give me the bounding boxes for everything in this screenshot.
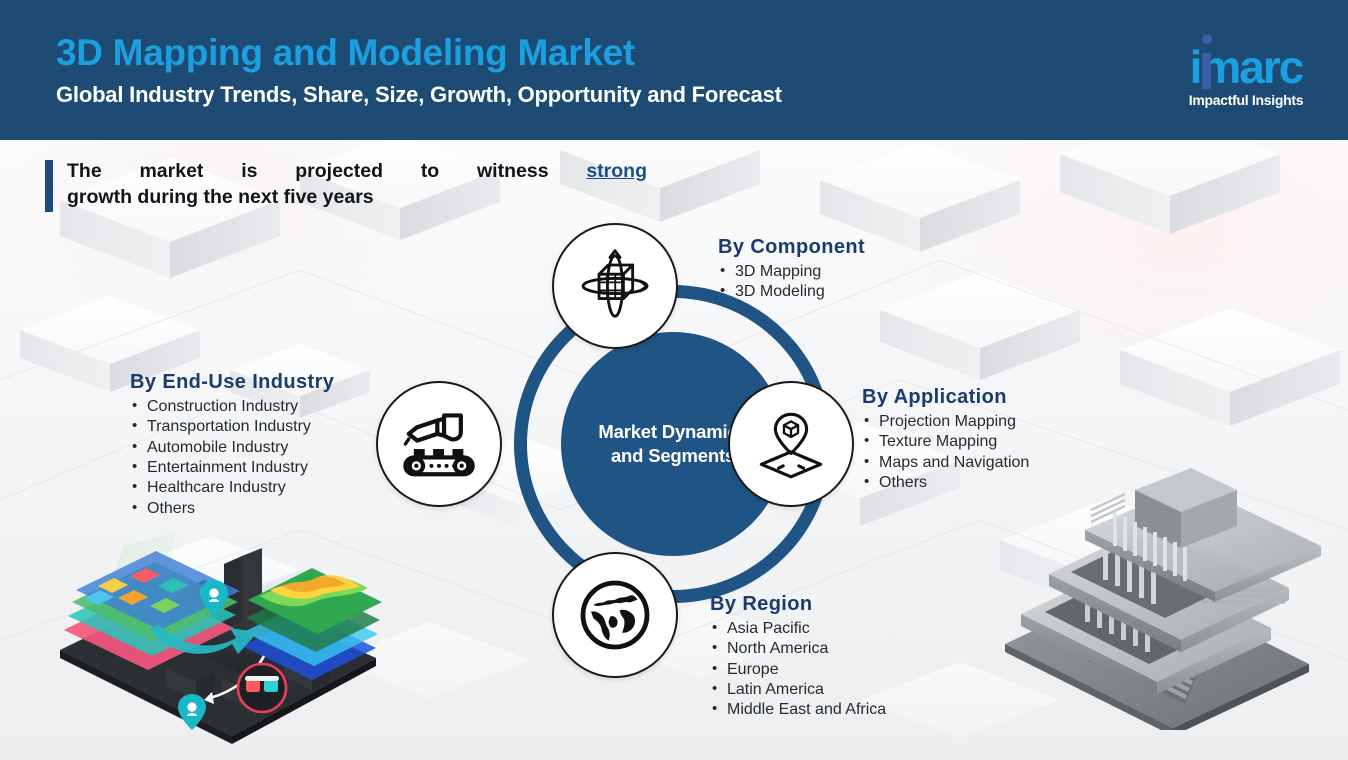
segment-block-end-use-industry: By End-Use Industry Construction Industr… bbox=[130, 371, 334, 519]
page-title: 3D Mapping and Modeling Market bbox=[56, 34, 782, 73]
isometric-3d-city-map-illustration bbox=[46, 528, 392, 760]
list-item: 3D Modeling bbox=[718, 282, 865, 302]
segment-list: Construction Industry Transportation Ind… bbox=[130, 397, 334, 519]
list-item: Europe bbox=[710, 660, 886, 680]
callout-line-1: The market is projected to witness stron… bbox=[67, 158, 647, 184]
hub-center-label: Market Dynamics and Segments bbox=[598, 420, 747, 467]
segment-title: By End-Use Industry bbox=[130, 371, 334, 394]
page-subtitle: Global Industry Trends, Share, Size, Gro… bbox=[56, 82, 782, 108]
hub-node-region[interactable] bbox=[552, 552, 678, 678]
segment-block-region: By Region Asia Pacific North America Eur… bbox=[710, 593, 886, 721]
strong-growth-link[interactable]: strong bbox=[586, 160, 647, 182]
list-item: Texture Mapping bbox=[862, 432, 1029, 452]
hub-node-component[interactable] bbox=[552, 223, 678, 349]
list-item: Projection Mapping bbox=[862, 412, 1029, 432]
logo-tagline: Impactful Insights bbox=[1166, 92, 1326, 108]
list-item: Others bbox=[130, 499, 334, 519]
segment-list: Asia Pacific North America Europe Latin … bbox=[710, 619, 886, 721]
globe-icon bbox=[575, 575, 655, 655]
logo-wordmark: imarc bbox=[1166, 44, 1326, 90]
list-item: 3D Mapping bbox=[718, 262, 865, 282]
segment-title: By Application bbox=[862, 386, 1029, 409]
robot-arm-conveyor-icon bbox=[397, 402, 481, 486]
header-text-group: 3D Mapping and Modeling Market Global In… bbox=[56, 34, 782, 108]
list-item: Transportation Industry bbox=[130, 417, 334, 437]
list-item: Entertainment Industry bbox=[130, 458, 334, 478]
list-item: Automobile Industry bbox=[130, 438, 334, 458]
list-item: Asia Pacific bbox=[710, 619, 886, 639]
segment-title: By Region bbox=[710, 593, 886, 616]
list-item: Healthcare Industry bbox=[130, 478, 334, 498]
callout-text: The market is projected to witness stron… bbox=[67, 158, 679, 211]
imarc-logo[interactable]: imarc Impactful Insights bbox=[1166, 26, 1326, 114]
segment-title: By Component bbox=[718, 236, 865, 259]
callout: The market is projected to witness stron… bbox=[45, 158, 685, 216]
callout-line-2: growth during the next five years bbox=[67, 184, 679, 210]
infographic-page: 3D Mapping and Modeling Market Global In… bbox=[0, 0, 1348, 760]
3d-glasses-icon bbox=[238, 664, 286, 712]
map-pin-cube-icon bbox=[752, 405, 830, 483]
list-item: North America bbox=[710, 639, 886, 659]
cube-rotation-axes-icon bbox=[573, 244, 657, 328]
header-banner: 3D Mapping and Modeling Market Global In… bbox=[0, 0, 1348, 140]
hub-center-line-2: and Segments bbox=[611, 445, 735, 466]
segment-block-component: By Component 3D Mapping 3D Modeling bbox=[718, 236, 865, 303]
callout-accent-bar bbox=[45, 160, 53, 212]
logo-i-stem-accent bbox=[1202, 53, 1211, 89]
segment-list: 3D Mapping 3D Modeling bbox=[718, 262, 865, 303]
hub-node-end-use-industry[interactable] bbox=[376, 381, 502, 507]
list-item: Middle East and Africa bbox=[710, 700, 886, 720]
list-item: Latin America bbox=[710, 680, 886, 700]
hub-center-line-1: Market Dynamics bbox=[598, 421, 747, 442]
list-item: Construction Industry bbox=[130, 397, 334, 417]
callout-line-1-text: The market is projected to witness bbox=[67, 160, 586, 182]
logo-dot-icon bbox=[1202, 34, 1212, 44]
hub-node-application[interactable] bbox=[728, 381, 854, 507]
gray-3d-building-model-illustration bbox=[985, 468, 1329, 730]
